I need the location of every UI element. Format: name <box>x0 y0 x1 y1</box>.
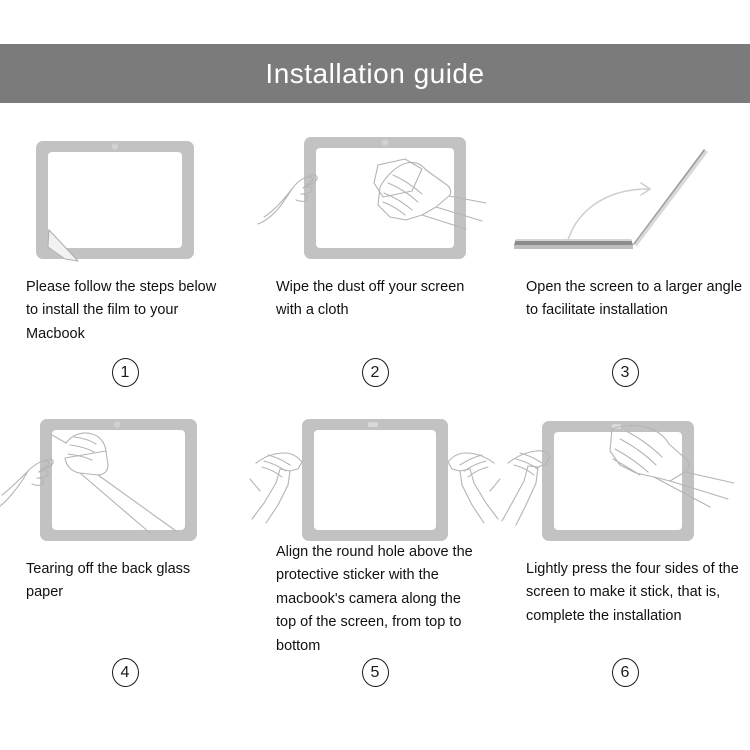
steps-row-2: Tearing off the back glass paper 4 <box>0 407 750 707</box>
step-number-badge: 5 <box>362 658 389 687</box>
step-panel-4: Tearing off the back glass paper 4 <box>0 407 250 707</box>
step-caption: Lightly press the four sides of the scre… <box>500 558 750 628</box>
illustration-hands-peeling-back-paper <box>0 407 250 542</box>
step-panel-3: Open the screen to a larger angle to fac… <box>500 125 750 407</box>
step-panel-2: Wipe the dust off your screen with a clo… <box>250 125 500 407</box>
step-badge-wrap: 5 <box>250 658 500 707</box>
steps-grid: Please follow the steps below to install… <box>0 125 750 707</box>
illustration-hand-pressing-screen-flat <box>500 407 750 542</box>
step-badge-wrap: 4 <box>0 658 250 707</box>
step-number-badge: 2 <box>362 358 389 387</box>
step-caption: Align the round hole above the protectiv… <box>250 541 500 658</box>
step-caption: Please follow the steps below to install… <box>0 276 250 346</box>
step-badge-wrap: 2 <box>250 358 500 407</box>
installation-guide-page: Installation guide Please fo <box>0 0 750 750</box>
step-number-badge: 6 <box>612 658 639 687</box>
step-number-badge: 1 <box>112 358 139 387</box>
step-badge-wrap: 3 <box>500 358 750 407</box>
step-number-badge: 4 <box>112 658 139 687</box>
step-number-badge: 3 <box>612 358 639 387</box>
step-panel-5: Align the round hole above the protectiv… <box>250 407 500 707</box>
steps-row-1: Please follow the steps below to install… <box>0 125 750 407</box>
page-title: Installation guide <box>265 60 484 88</box>
header-banner: Installation guide <box>0 44 750 103</box>
step-badge-wrap: 1 <box>0 358 250 407</box>
step-caption: Open the screen to a larger angle to fac… <box>500 276 750 323</box>
illustration-hands-wiping-screen-with-cloth <box>250 125 500 260</box>
illustration-tablet-with-peeling-film-corner <box>0 125 250 260</box>
step-caption: Wipe the dust off your screen with a clo… <box>250 276 500 323</box>
step-badge-wrap: 6 <box>500 658 750 707</box>
illustration-two-hands-aligning-film-on-screen <box>250 407 500 525</box>
step-panel-6: Lightly press the four sides of the scre… <box>500 407 750 707</box>
step-caption: Tearing off the back glass paper <box>0 558 250 605</box>
illustration-laptop-side-view-opening-lid-arrow <box>500 125 750 260</box>
step-panel-1: Please follow the steps below to install… <box>0 125 250 407</box>
